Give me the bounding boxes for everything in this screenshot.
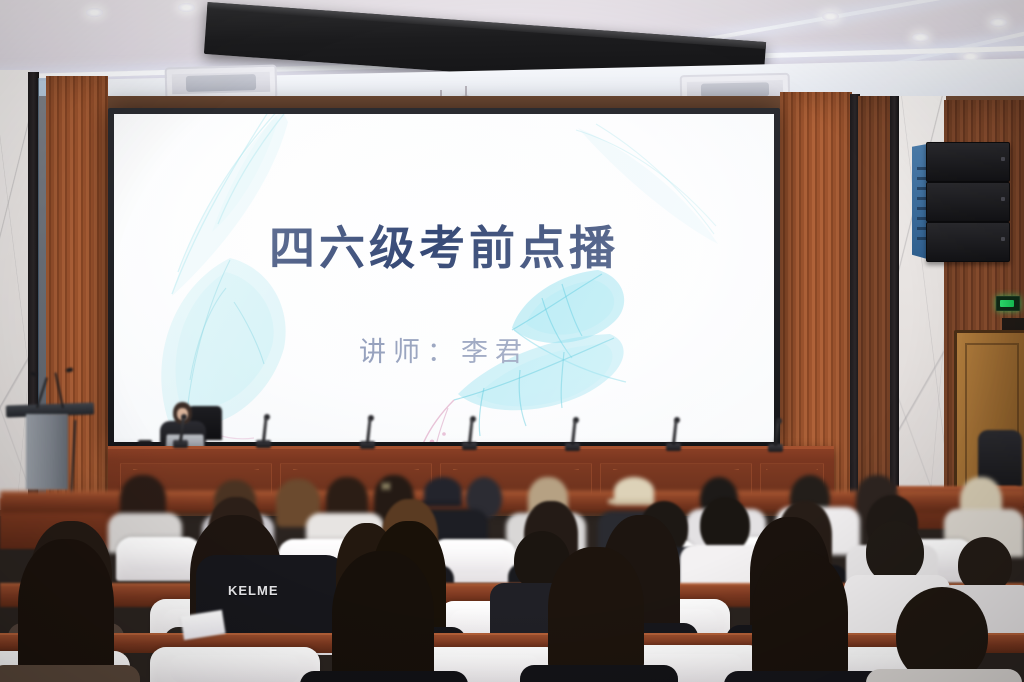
audience-area: H <box>0 455 1024 682</box>
microphone-head <box>368 415 374 421</box>
microphone-head <box>181 414 187 420</box>
screen-glare <box>114 114 774 442</box>
speaker-module <box>926 142 1010 182</box>
lecture-hall-photo: 四六级考前点播 讲师：李君 <box>0 0 1024 682</box>
audience-chair <box>150 647 320 682</box>
jacket-brand-text: KELME <box>228 583 279 598</box>
downlight-icon <box>86 8 103 17</box>
downlight-icon <box>990 18 1007 27</box>
microphone-head <box>776 418 782 424</box>
slide-subtitle: 讲师：李君 <box>114 330 774 369</box>
speaker-module <box>926 222 1010 262</box>
led-screen-panel[interactable]: 四六级考前点播 讲师：李君 <box>114 114 774 442</box>
exit-sign-icon <box>996 296 1020 311</box>
downlight-icon <box>178 3 195 12</box>
line-array-speaker-stack <box>912 140 1008 268</box>
wood-slat-panel-right <box>780 92 852 502</box>
hair-clip: H <box>382 481 389 493</box>
microphone-head <box>264 414 270 420</box>
wall-reveal-gap <box>890 96 899 502</box>
led-screen-bezel: 四六级考前点播 讲师：李君 <box>108 108 780 448</box>
microphone-head <box>573 417 579 423</box>
microphone-head <box>674 417 680 423</box>
downlight-icon <box>912 33 929 42</box>
speaker-module <box>926 182 1010 222</box>
downlight-icon <box>822 12 839 21</box>
slide-title: 四六级考前点播 <box>114 212 774 278</box>
microphone-head <box>470 416 476 422</box>
feather-decoration-icon <box>502 264 662 394</box>
